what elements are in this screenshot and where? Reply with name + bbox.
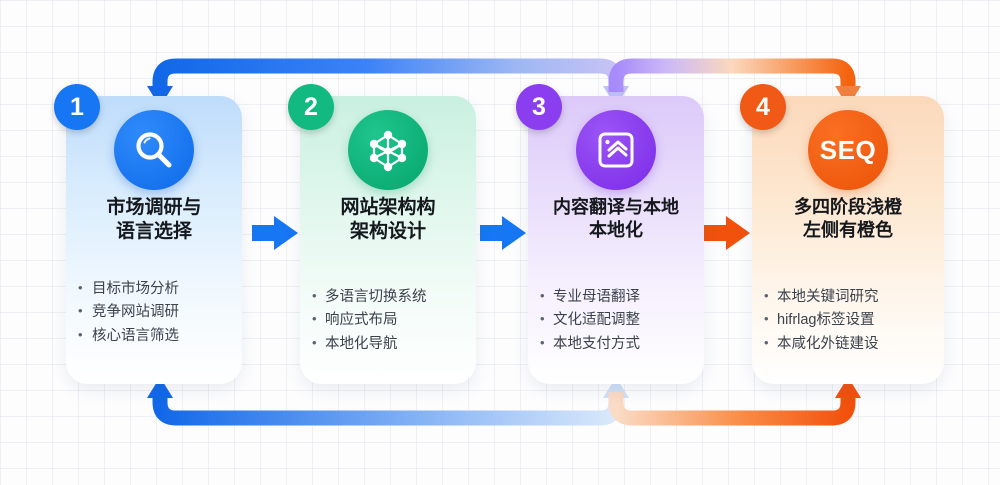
step-number-badge-2: 2 bbox=[288, 84, 334, 130]
title-line-2: 语言选择 bbox=[66, 220, 242, 244]
step-card-3-surface: 内容翻译与本地 本地化 专业母语翻译 文化适配调整 本地支付方式 bbox=[528, 96, 704, 384]
step-number-badge-1: 1 bbox=[54, 84, 100, 130]
process-flow-diagram: 市场调研与 语言选择 目标市场分析 竞争网站调研 核心语言筛选 1 bbox=[0, 0, 1000, 485]
seq-label: SEQ bbox=[820, 135, 876, 166]
step-card-4-title: 多四阶段浅橙 左侧有橙色 bbox=[752, 196, 944, 242]
list-item: 本地关键词研究 bbox=[762, 286, 936, 309]
list-item: 竞争网站调研 bbox=[76, 301, 234, 324]
step-number-badge-4: 4 bbox=[740, 84, 786, 130]
step-card-2-title: 网站架构构 架构设计 bbox=[300, 196, 476, 245]
title-line-1: 多四阶段浅橙 bbox=[752, 196, 944, 219]
list-item: hifrlag标签设置 bbox=[762, 309, 936, 332]
step-number-badge-3: 3 bbox=[516, 84, 562, 130]
step-card-1[interactable]: 市场调研与 语言选择 目标市场分析 竞争网站调研 核心语言筛选 1 bbox=[66, 96, 242, 384]
step-card-2-surface: 网站架构构 架构设计 多语言切换系统 响应式布局 本地化导航 bbox=[300, 96, 476, 384]
step-card-4[interactable]: SEQ 多四阶段浅橙 左侧有橙色 本地关键词研究 hifrlag标签设置 本咸化… bbox=[752, 96, 944, 384]
list-item: 核心语言筛选 bbox=[76, 325, 234, 348]
list-item: 多语言切换系统 bbox=[310, 286, 468, 309]
list-item: 本地支付方式 bbox=[538, 333, 696, 356]
list-item: 本地化导航 bbox=[310, 333, 468, 356]
connector-arrow-3-4 bbox=[704, 216, 750, 250]
step-card-3-title: 内容翻译与本地 本地化 bbox=[528, 196, 704, 242]
step-card-1-bullets: 目标市场分析 竞争网站调研 核心语言筛选 bbox=[76, 278, 234, 348]
connector-arrow-1-2 bbox=[252, 216, 298, 250]
title-line-2: 本地化 bbox=[528, 219, 704, 242]
connector-arrow-2-3 bbox=[480, 216, 526, 250]
magnifier-icon bbox=[114, 110, 194, 190]
step-card-1-title: 市场调研与 语言选择 bbox=[66, 196, 242, 245]
step-card-3-bullets: 专业母语翻译 文化适配调整 本地支付方式 bbox=[538, 286, 696, 356]
list-item: 专业母语翻译 bbox=[538, 286, 696, 309]
title-line-2: 架构设计 bbox=[300, 220, 476, 244]
list-item: 本咸化外链建设 bbox=[762, 333, 936, 356]
step-card-2[interactable]: 网站架构构 架构设计 多语言切换系统 响应式布局 本地化导航 2 bbox=[300, 96, 476, 384]
title-line-1: 网站架构构 bbox=[300, 196, 476, 220]
seq-text-icon: SEQ bbox=[808, 110, 888, 190]
layers-frame-icon bbox=[576, 110, 656, 190]
title-line-2: 左侧有橙色 bbox=[752, 219, 944, 242]
list-item: 目标市场分析 bbox=[76, 278, 234, 301]
title-line-1: 市场调研与 bbox=[66, 196, 242, 220]
step-card-4-bullets: 本地关键词研究 hifrlag标签设置 本咸化外链建设 bbox=[762, 286, 936, 356]
title-line-1: 内容翻译与本地 bbox=[528, 196, 704, 219]
list-item: 响应式布局 bbox=[310, 309, 468, 332]
step-card-3[interactable]: 内容翻译与本地 本地化 专业母语翻译 文化适配调整 本地支付方式 3 bbox=[528, 96, 704, 384]
network-nodes-icon bbox=[348, 110, 428, 190]
step-card-1-surface: 市场调研与 语言选择 目标市场分析 竞争网站调研 核心语言筛选 bbox=[66, 96, 242, 384]
step-card-2-bullets: 多语言切换系统 响应式布局 本地化导航 bbox=[310, 286, 468, 356]
step-card-4-surface: SEQ 多四阶段浅橙 左侧有橙色 本地关键词研究 hifrlag标签设置 本咸化… bbox=[752, 96, 944, 384]
list-item: 文化适配调整 bbox=[538, 309, 696, 332]
